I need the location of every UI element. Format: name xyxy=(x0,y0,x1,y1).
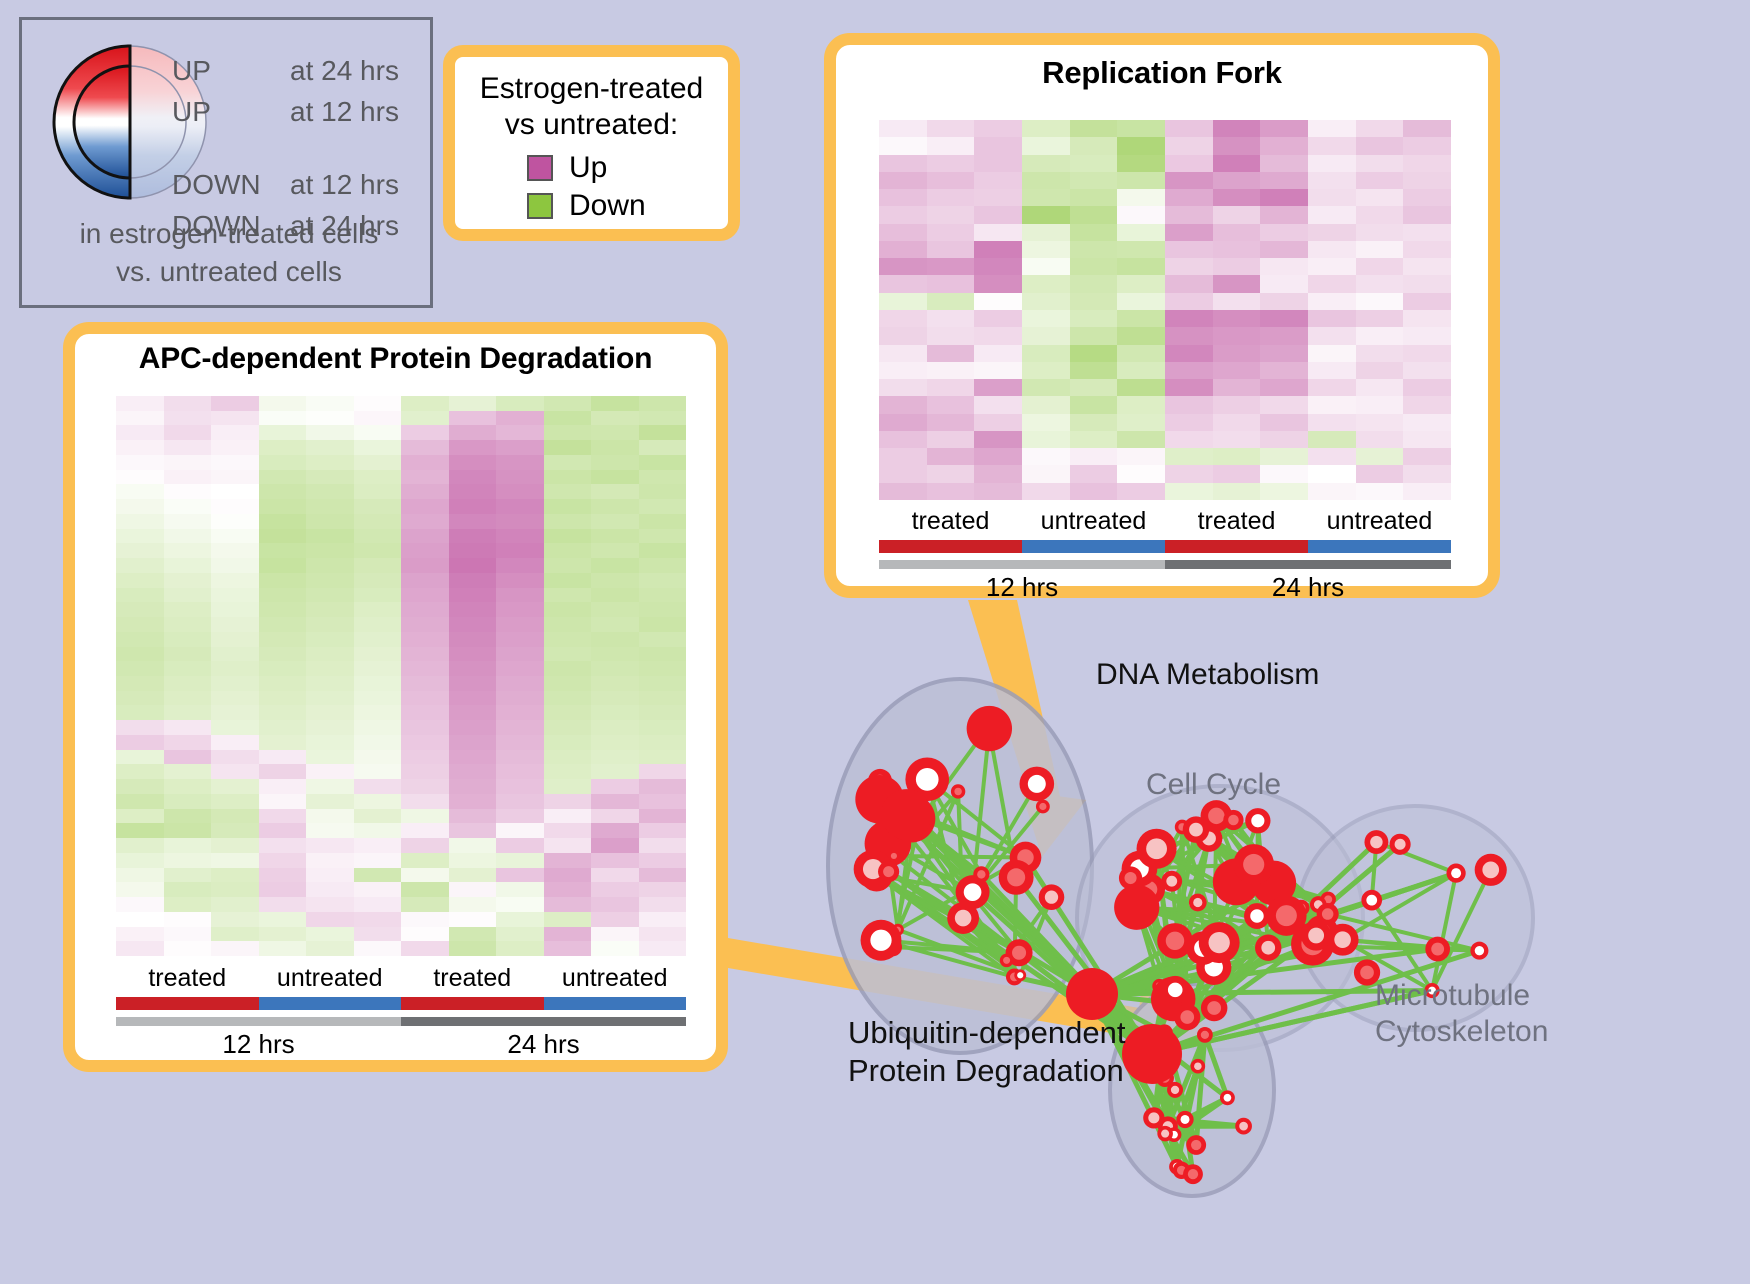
heatmap-cell xyxy=(1213,465,1261,482)
heatmap-cell xyxy=(591,543,639,558)
heatmap-cell xyxy=(1356,414,1404,431)
heatmap-cell xyxy=(306,425,354,440)
heatmap-cell xyxy=(1022,448,1070,465)
heatmap-cell xyxy=(1403,448,1451,465)
heatmap-cell xyxy=(211,411,259,426)
heatmap-cell xyxy=(1213,120,1261,137)
heatmap-cell xyxy=(306,632,354,647)
heatmap-cell xyxy=(879,137,927,154)
heatmap-cell xyxy=(591,499,639,514)
network-node[interactable] xyxy=(1174,1004,1200,1030)
network-node[interactable] xyxy=(1327,924,1359,956)
network-node[interactable] xyxy=(1475,854,1507,886)
heatmap-cell xyxy=(354,882,402,897)
network-node[interactable] xyxy=(1361,890,1382,911)
heatmap-cell xyxy=(354,735,402,750)
network-node[interactable] xyxy=(1020,767,1055,802)
node-inner-core xyxy=(1395,839,1406,850)
heatmap-cell xyxy=(974,155,1022,172)
heatmap-cell xyxy=(1356,293,1404,310)
network-node[interactable] xyxy=(888,850,900,862)
heatmap-cell xyxy=(1070,465,1118,482)
heatmap-cell xyxy=(1356,120,1404,137)
heatmap-cell xyxy=(306,602,354,617)
timepoint-bar-segment xyxy=(879,560,1165,569)
heatmap-cell xyxy=(164,691,212,706)
heatmap-cell xyxy=(306,809,354,824)
network-node[interactable] xyxy=(1220,1090,1235,1105)
heatmap-cell xyxy=(591,529,639,544)
network-node[interactable] xyxy=(861,920,902,961)
heatmap-cell xyxy=(1165,189,1213,206)
heatmap-cell xyxy=(927,172,975,189)
condition-label: untreated xyxy=(544,964,687,993)
heatmap-cell xyxy=(259,411,307,426)
heatmap-cell xyxy=(879,189,927,206)
heatmap-cell xyxy=(1308,224,1356,241)
heatmap-cell xyxy=(306,647,354,662)
heatmap-cell xyxy=(1022,155,1070,172)
heatmap-cell xyxy=(449,617,497,632)
heatmap-cell xyxy=(496,750,544,765)
heatmap-cell xyxy=(639,425,687,440)
network-node[interactable] xyxy=(973,866,989,882)
heatmap-cell xyxy=(116,809,164,824)
heatmap-cell xyxy=(1213,206,1261,223)
heatmap-cell xyxy=(401,676,449,691)
heatmap-cell xyxy=(1308,189,1356,206)
node-inner-core xyxy=(1171,1086,1179,1094)
heatmap-cell xyxy=(449,484,497,499)
heatmap-cell xyxy=(164,455,212,470)
heatmap-cell xyxy=(974,258,1022,275)
network-node[interactable] xyxy=(1201,995,1228,1022)
heatmap-cell xyxy=(1260,155,1308,172)
network-node[interactable] xyxy=(1114,885,1159,930)
heatmap-cell xyxy=(1308,414,1356,431)
heatmap-cell xyxy=(1213,483,1261,500)
heatmap-cell xyxy=(1165,241,1213,258)
heatmap-cell xyxy=(639,927,687,942)
network-node[interactable] xyxy=(1470,942,1488,960)
heatmap-cell xyxy=(1308,172,1356,189)
wheel-time: at 12 hrs xyxy=(290,164,399,205)
heatmap-cell xyxy=(306,779,354,794)
node-inner-core xyxy=(1228,815,1239,826)
heatmap-cell xyxy=(1260,120,1308,137)
network-node[interactable] xyxy=(1183,1164,1203,1184)
heatmap-cell xyxy=(306,691,354,706)
heatmap-cell xyxy=(1165,379,1213,396)
heatmap-cell xyxy=(1308,483,1356,500)
network-node[interactable] xyxy=(1199,922,1240,963)
heatmap-cell xyxy=(1022,258,1070,275)
heatmap-cell xyxy=(639,853,687,868)
network-node[interactable] xyxy=(1244,903,1270,929)
heatmap-cell xyxy=(164,440,212,455)
network-node[interactable] xyxy=(1161,976,1189,1004)
node-inner-core xyxy=(1012,946,1026,960)
heatmap-cell xyxy=(1165,327,1213,344)
network-node[interactable] xyxy=(1446,864,1465,883)
heatmap-cell xyxy=(1165,120,1213,137)
heatmap-cell xyxy=(1403,155,1451,172)
heatmap-cell xyxy=(1070,275,1118,292)
heatmap-cell xyxy=(401,927,449,942)
heatmap-cell xyxy=(354,514,402,529)
network-node[interactable] xyxy=(1039,884,1065,910)
heatmap-cell xyxy=(306,927,354,942)
network-node[interactable] xyxy=(1317,903,1339,925)
heatmap-cell xyxy=(1070,310,1118,327)
heatmap-cell xyxy=(927,310,975,327)
node-outer-ring xyxy=(1114,885,1159,930)
heatmap-cell xyxy=(1308,345,1356,362)
heatmap-cell xyxy=(211,794,259,809)
node-inner-core xyxy=(1125,872,1137,884)
heatmap-cell xyxy=(164,927,212,942)
legend-item-label: Up xyxy=(569,149,607,187)
heatmap-cell xyxy=(1356,172,1404,189)
network-node[interactable] xyxy=(1137,829,1177,869)
network-node[interactable] xyxy=(1245,808,1270,833)
heatmap-cell xyxy=(974,224,1022,241)
panel-title: APC-dependent Protein Degradation xyxy=(75,342,716,376)
heatmap-cell xyxy=(211,396,259,411)
network-node[interactable] xyxy=(1036,800,1050,814)
network-node[interactable] xyxy=(1157,1126,1173,1142)
heatmap-cell xyxy=(211,853,259,868)
heatmap-cell xyxy=(591,838,639,853)
network-node[interactable] xyxy=(951,784,965,798)
heatmap-cell xyxy=(496,720,544,735)
heatmap-cell xyxy=(927,120,975,137)
heatmap-cell xyxy=(116,838,164,853)
heatmap-cell xyxy=(259,514,307,529)
node-inner-core xyxy=(870,930,891,951)
heatmap-cell xyxy=(116,543,164,558)
heatmap-cell xyxy=(1403,206,1451,223)
heatmap-cell xyxy=(591,853,639,868)
network-node[interactable] xyxy=(999,860,1034,895)
condition-bar-segment xyxy=(259,997,402,1010)
heatmap-cell xyxy=(306,411,354,426)
network-node[interactable] xyxy=(1014,969,1026,981)
heatmap-cell xyxy=(927,206,975,223)
heatmap-cell xyxy=(401,514,449,529)
heatmap-cell xyxy=(401,705,449,720)
heatmap-cell xyxy=(1308,293,1356,310)
heatmap-cell xyxy=(211,499,259,514)
heatmap-cell xyxy=(116,779,164,794)
network-node[interactable] xyxy=(1189,894,1207,912)
heatmap-cell xyxy=(164,912,212,927)
heatmap-cell xyxy=(449,588,497,603)
heatmap-cell xyxy=(544,647,592,662)
heatmap-cell xyxy=(1213,293,1261,310)
node-inner-core xyxy=(1148,1112,1159,1123)
heatmap-cell xyxy=(974,172,1022,189)
heatmap-cell xyxy=(1260,327,1308,344)
network-node[interactable] xyxy=(1425,937,1450,962)
heatmap-cell xyxy=(449,794,497,809)
heatmap-cell xyxy=(591,632,639,647)
timepoint-bar-segment xyxy=(401,1017,686,1026)
heatmap-cell xyxy=(591,396,639,411)
heatmap-cell xyxy=(974,345,1022,362)
node-inner-core xyxy=(1209,932,1230,953)
heatmap-cell xyxy=(449,676,497,691)
heatmap-cell xyxy=(259,676,307,691)
heatmap-cell xyxy=(449,720,497,735)
heatmap-cell xyxy=(591,735,639,750)
heatmap-cell xyxy=(211,691,259,706)
heatmap-cell xyxy=(1022,241,1070,258)
heatmap-cell xyxy=(116,676,164,691)
network-node[interactable] xyxy=(878,861,899,882)
heatmap-cell xyxy=(116,632,164,647)
node-inner-core xyxy=(1045,890,1058,903)
heatmap-cell xyxy=(591,617,639,632)
heatmap-cell xyxy=(639,720,687,735)
heatmap-cell xyxy=(401,764,449,779)
heatmap-cell xyxy=(1403,189,1451,206)
heatmap-cell xyxy=(639,897,687,912)
heatmap-cell xyxy=(449,661,497,676)
heatmap-cell xyxy=(1070,189,1118,206)
heatmap-cell xyxy=(164,411,212,426)
heatmap-cell xyxy=(591,823,639,838)
node-inner-core xyxy=(1180,1010,1194,1024)
heatmap-cell xyxy=(1308,431,1356,448)
network-node[interactable] xyxy=(1364,830,1388,854)
heatmap-cell xyxy=(1213,379,1261,396)
network-node[interactable] xyxy=(1233,844,1274,885)
legend-items: Up Down xyxy=(455,149,728,225)
heatmap-cell xyxy=(211,543,259,558)
node-inner-core xyxy=(1007,868,1025,886)
network-node[interactable] xyxy=(1266,895,1306,935)
condition-color-bar xyxy=(116,997,686,1010)
heatmap-cell xyxy=(116,588,164,603)
heatmap-cell xyxy=(116,455,164,470)
heatmap-cell xyxy=(211,455,259,470)
heatmap-cell xyxy=(259,661,307,676)
node-inner-core xyxy=(1251,814,1264,827)
heatmap-cell xyxy=(591,440,639,455)
heatmap-cell xyxy=(496,514,544,529)
heatmap-cell xyxy=(116,882,164,897)
heatmap-cell xyxy=(1165,362,1213,379)
network-node[interactable] xyxy=(881,789,932,840)
heatmap-cell xyxy=(496,396,544,411)
heatmap-cell xyxy=(401,602,449,617)
heatmap-cell xyxy=(259,927,307,942)
heatmap-cell xyxy=(1403,241,1451,258)
heatmap-cell xyxy=(306,499,354,514)
network-node[interactable] xyxy=(1119,866,1142,889)
heatmap-cell xyxy=(211,484,259,499)
heatmap-cell xyxy=(401,440,449,455)
node-inner-core xyxy=(1161,1130,1169,1138)
heatmap-cell xyxy=(306,838,354,853)
node-inner-core xyxy=(954,788,961,795)
node-inner-core xyxy=(1370,836,1382,848)
heatmap-cell xyxy=(211,632,259,647)
heatmap-cell xyxy=(164,750,212,765)
heatmap-cell xyxy=(1022,362,1070,379)
heatmap-cell xyxy=(496,425,544,440)
heatmap-cell xyxy=(927,241,975,258)
heatmap-cell xyxy=(1070,362,1118,379)
heatmap-cell xyxy=(116,470,164,485)
direction-wheel-legend: UP at 24 hrs UP at 12 hrs DOWN at 12 hrs… xyxy=(19,17,433,308)
heatmap-cell xyxy=(1070,327,1118,344)
network-node[interactable] xyxy=(967,706,1012,751)
timepoint-labels: 12 hrs 24 hrs xyxy=(116,1029,686,1060)
heatmap-cell xyxy=(591,809,639,824)
network-node[interactable] xyxy=(1223,810,1243,830)
heatmap-cell xyxy=(259,543,307,558)
heatmap-cell xyxy=(401,882,449,897)
network-node[interactable] xyxy=(1390,834,1411,855)
heatmap-cell xyxy=(164,735,212,750)
node-inner-core xyxy=(1166,876,1177,887)
heatmap-cell xyxy=(927,189,975,206)
heatmap-cell xyxy=(401,853,449,868)
condition-labels: treated untreated treated untreated xyxy=(879,507,1451,536)
heatmap-cell xyxy=(164,779,212,794)
heatmap-cell xyxy=(1260,310,1308,327)
network-node[interactable] xyxy=(1176,1111,1193,1128)
heatmap-cell xyxy=(259,617,307,632)
heatmap-cell xyxy=(1117,258,1165,275)
wheel-footer-line1: in estrogen-treated cells xyxy=(22,215,436,253)
heatmap-cell xyxy=(496,927,544,942)
heatmap-cell xyxy=(211,941,259,956)
heatmap-cell xyxy=(354,661,402,676)
heatmap-cell xyxy=(164,632,212,647)
heatmap-cell xyxy=(164,529,212,544)
network-node[interactable] xyxy=(1183,816,1209,842)
heatmap-cell xyxy=(401,529,449,544)
heatmap-cell xyxy=(259,484,307,499)
network-node[interactable] xyxy=(947,902,979,934)
node-inner-core xyxy=(1482,862,1499,879)
heatmap-cell xyxy=(879,206,927,223)
heatmap-cell xyxy=(927,483,975,500)
heatmap-cell xyxy=(544,779,592,794)
heatmap-cell xyxy=(1260,345,1308,362)
legend-title-line2: vs untreated: xyxy=(455,107,728,143)
heatmap-cell xyxy=(1022,379,1070,396)
heatmap-cell xyxy=(1260,224,1308,241)
network-node[interactable] xyxy=(1122,1024,1182,1084)
heatmap-cell xyxy=(1213,189,1261,206)
heatmap-cell xyxy=(164,484,212,499)
heatmap-cell xyxy=(591,425,639,440)
heatmap-cell xyxy=(259,823,307,838)
condition-label: treated xyxy=(879,507,1022,536)
cluster-label-line2: Protein Degradation xyxy=(848,1052,1126,1090)
heatmap-cell xyxy=(1022,224,1070,241)
node-inner-core xyxy=(1239,1122,1248,1131)
heatmap-cell xyxy=(544,676,592,691)
heatmap-cell xyxy=(639,440,687,455)
network-node[interactable] xyxy=(1186,1135,1206,1155)
heatmap-cell xyxy=(211,676,259,691)
heatmap-cell xyxy=(927,414,975,431)
heatmap-cell xyxy=(879,431,927,448)
heatmap-cell xyxy=(1070,258,1118,275)
heatmap-cell xyxy=(306,764,354,779)
heatmap-cell xyxy=(974,465,1022,482)
heatmap-cell xyxy=(927,275,975,292)
heatmap-cell xyxy=(354,705,402,720)
heatmap-cell xyxy=(449,514,497,529)
heatmap-cell xyxy=(591,794,639,809)
node-inner-core xyxy=(1181,1115,1190,1124)
heatmap-cell xyxy=(259,882,307,897)
heatmap-cell xyxy=(974,275,1022,292)
heatmap-cell xyxy=(306,661,354,676)
heatmap-cell xyxy=(401,647,449,662)
heatmap-cell xyxy=(1308,206,1356,223)
heatmap-cell xyxy=(591,676,639,691)
heatmap-cell xyxy=(1070,379,1118,396)
heatmap-cell xyxy=(974,327,1022,344)
network-node[interactable] xyxy=(1255,934,1281,960)
heatmap-cell xyxy=(496,705,544,720)
heatmap-cell xyxy=(1356,379,1404,396)
heatmap-cell xyxy=(449,411,497,426)
heatmap-cell xyxy=(116,529,164,544)
heatmap-cell xyxy=(1165,275,1213,292)
heatmap-cell xyxy=(164,897,212,912)
heatmap-cell xyxy=(259,868,307,883)
heatmap-cell xyxy=(449,470,497,485)
heatmap-cell xyxy=(591,484,639,499)
heatmap-cell xyxy=(544,897,592,912)
heatmap-cell xyxy=(116,573,164,588)
network-node[interactable] xyxy=(1197,1027,1213,1043)
heatmap-cell xyxy=(1403,431,1451,448)
heatmap-cell xyxy=(354,720,402,735)
heatmap-cell xyxy=(116,853,164,868)
node-outer-ring xyxy=(881,789,932,840)
network-node[interactable] xyxy=(1191,1059,1206,1074)
heatmap-cell xyxy=(354,632,402,647)
heatmap-cell xyxy=(211,440,259,455)
heatmap-cell xyxy=(639,499,687,514)
network-node[interactable] xyxy=(1000,954,1014,968)
network-node[interactable] xyxy=(1235,1118,1252,1135)
heatmap-cell xyxy=(259,632,307,647)
node-inner-core xyxy=(977,870,985,878)
heatmap-cell xyxy=(544,425,592,440)
heatmap-cell xyxy=(544,602,592,617)
heatmap-cell xyxy=(1070,206,1118,223)
network-node[interactable] xyxy=(1143,1107,1164,1128)
network-node[interactable] xyxy=(1066,968,1118,1020)
heatmap-cell xyxy=(1403,483,1451,500)
heatmap-cell xyxy=(164,882,212,897)
node-inner-core xyxy=(1261,941,1275,955)
heatmap-cell xyxy=(1260,379,1308,396)
heatmap-cell xyxy=(639,602,687,617)
heatmap-cell xyxy=(306,794,354,809)
node-inner-core xyxy=(1360,966,1374,980)
